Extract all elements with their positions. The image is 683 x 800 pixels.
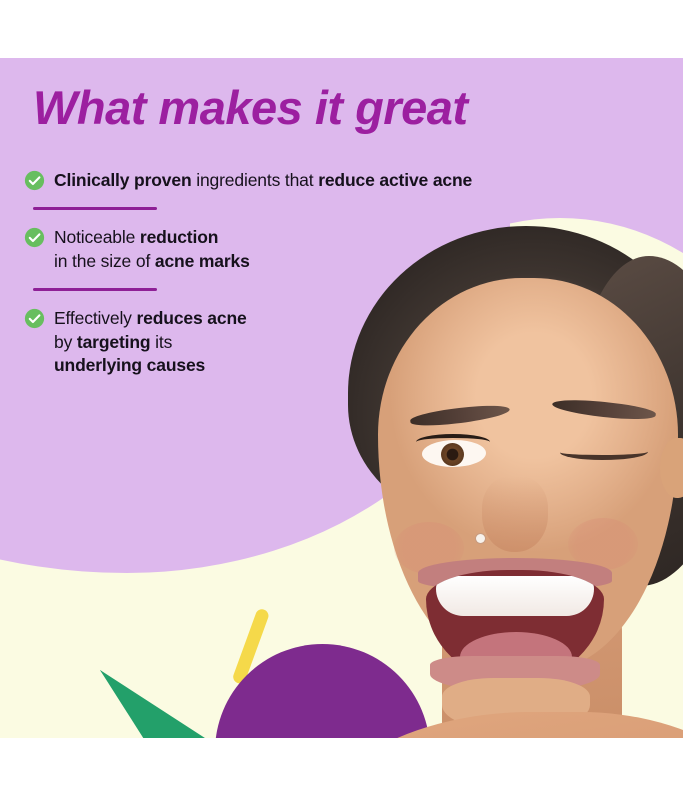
benefit-item-1: Clinically proven ingredients that reduc… <box>24 168 664 192</box>
benefit-text-3: Effectively reduces acneby targeting its… <box>54 306 247 377</box>
check-circle-icon <box>24 227 45 248</box>
infographic-canvas: What makes it great Clinically proven in… <box>0 0 683 800</box>
benefit-divider-1 <box>33 207 157 210</box>
check-circle-icon <box>24 170 45 191</box>
benefit-item-3: Effectively reduces acneby targeting its… <box>24 306 664 377</box>
benefit-item-2: Noticeable reductionin the size of acne … <box>24 225 664 273</box>
benefit-divider-2 <box>33 288 157 291</box>
benefits-list: Clinically proven ingredients that reduc… <box>24 168 664 378</box>
benefit-text-2: Noticeable reductionin the size of acne … <box>54 225 250 273</box>
page-title: What makes it great <box>33 84 468 131</box>
check-circle-icon <box>24 308 45 329</box>
content-layer: What makes it great Clinically proven in… <box>0 58 683 738</box>
benefit-text-1: Clinically proven ingredients that reduc… <box>54 168 472 192</box>
